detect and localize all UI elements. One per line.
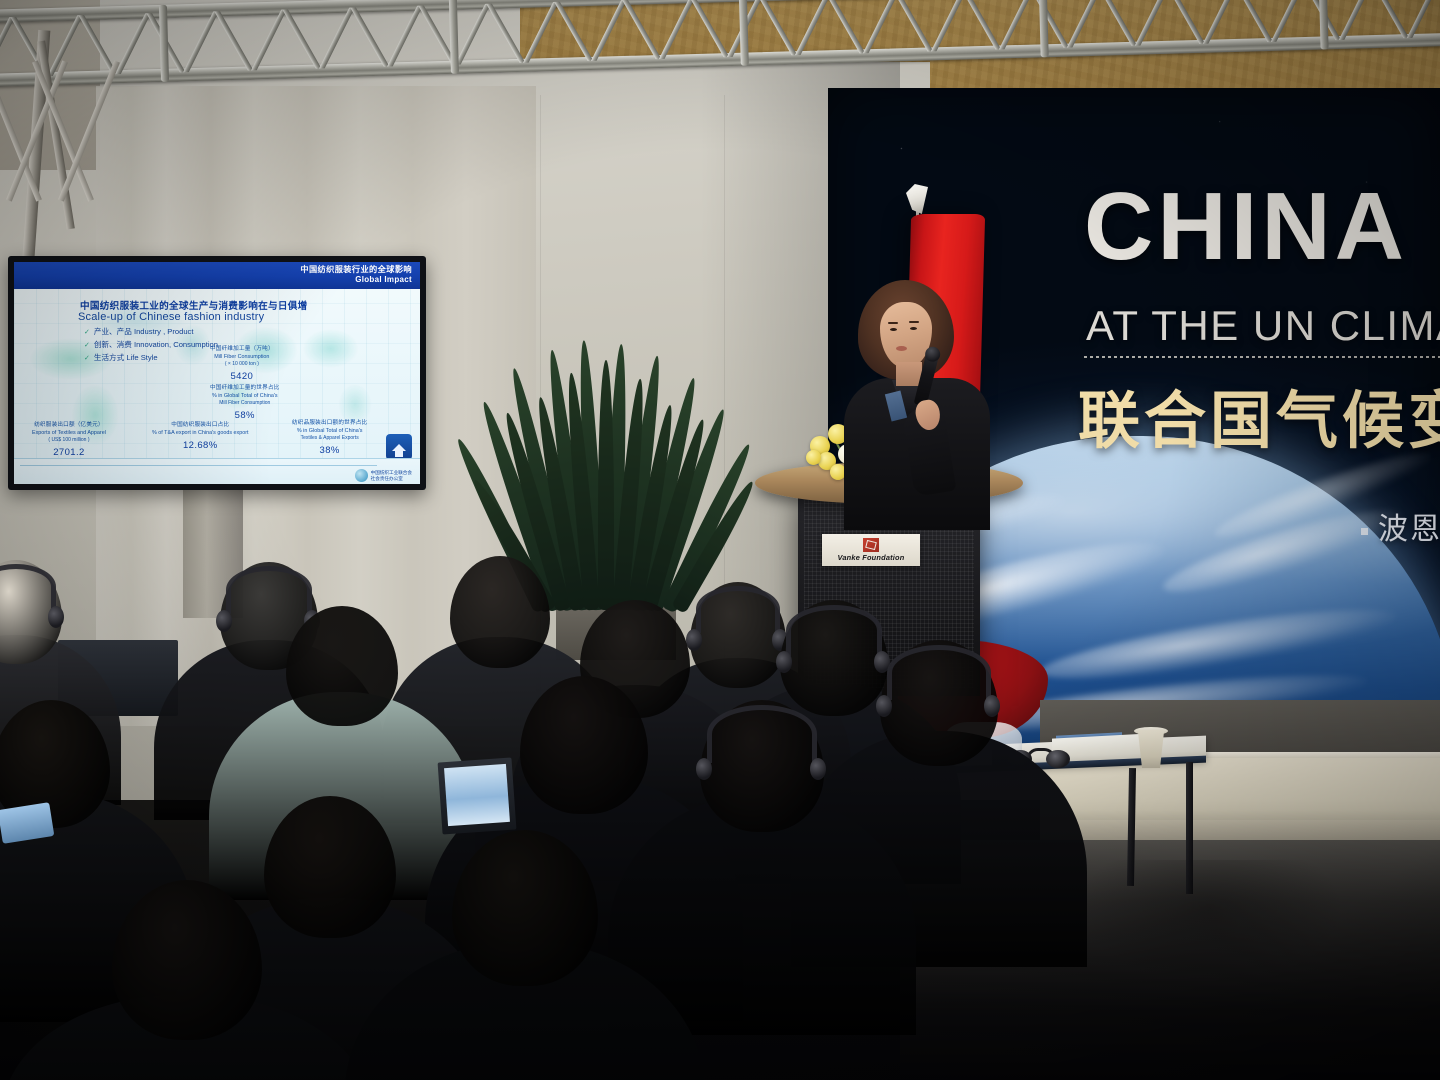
interpretation-headset	[887, 645, 991, 700]
truss-diagonal	[1369, 0, 1412, 45]
stat-global-share-ta-export: 纺织品服装出口额的世界占比 % in Global Total of China…	[292, 420, 367, 456]
truss-diagonal	[1133, 0, 1172, 52]
stat-mill-fiber-consumption: 中国纤维加工量（万吨） Mill Fiber Consumption ( × 1…	[210, 346, 274, 382]
presentation-slide: 中国纺织服装行业的全球影响 Global Impact 中国纺织服装工业的全球生…	[14, 262, 420, 484]
stat-label-en: % of T&A export in China's goods export	[152, 430, 249, 437]
stat-value: 2701.2	[32, 447, 106, 458]
truss-diagonal	[997, 0, 1036, 56]
backdrop-location-text: 波恩	[1378, 513, 1440, 546]
headset-earcup	[776, 651, 792, 673]
truss-diagonal	[961, 0, 1004, 56]
truss-diagonal	[757, 0, 800, 62]
truss-diagonal	[453, 0, 492, 71]
slide-title-en: Scale-up of Chinese fashion industry	[78, 311, 264, 323]
slide-bullet-item: 生活方式 Life Style	[84, 352, 218, 365]
stat-value: 38%	[292, 445, 367, 456]
truss-diagonal	[113, 9, 152, 78]
headphone-earcup	[1046, 750, 1070, 768]
truss-vertical	[1039, 0, 1049, 57]
backdrop-chinese-title: 联合国气候变化大	[1078, 370, 1440, 460]
stat-textile-apparel-exports: 纺织服装出口额（亿美元） Exports of Textiles and App…	[32, 422, 106, 458]
org-name: 中国纺织工业联合会 社会责任办公室	[371, 470, 412, 482]
truss-diagonal	[1233, 0, 1276, 49]
backdrop-headline: CHINA	[1084, 182, 1408, 272]
org-name-line1: 中国纺织工业联合会	[371, 470, 412, 476]
interpretation-headset	[226, 566, 312, 614]
interpretation-headset	[696, 586, 780, 633]
truss-diagonal	[893, 0, 936, 58]
floor-shadow	[1080, 860, 1340, 980]
truss-diagonal	[317, 3, 356, 75]
truss-diagonal	[1165, 0, 1208, 50]
truss-cross-brace	[8, 70, 118, 190]
stat-label-cn: 纺织服装出口额（亿美元）	[32, 422, 106, 430]
stat-global-share-fiber: 中国纤维加工量的世界占比 % in Global Total of China'…	[210, 385, 280, 421]
truss-diagonal	[181, 7, 220, 78]
headset-earcup	[810, 758, 826, 780]
stat-value: 5420	[210, 371, 274, 382]
slide-bullet-item: 创新、消费 Innovation, Consumption	[84, 339, 218, 352]
snake-plant	[528, 338, 704, 610]
truss-diagonal	[1201, 0, 1240, 50]
headset-earcup	[686, 629, 702, 651]
audience-head	[112, 880, 262, 1040]
truss-diagonal	[349, 3, 392, 73]
stat-label-en: % in Global Total of China's	[210, 393, 280, 400]
stage-front-panel	[1040, 758, 1440, 828]
truss-diagonal	[621, 0, 664, 66]
truss-vertical	[739, 0, 749, 66]
stat-ta-share-goods-export: 中国纺织服装出口占比 % of T&A export in China's go…	[152, 422, 249, 451]
stat-value: 58%	[210, 410, 280, 421]
headset-earcup	[48, 606, 64, 628]
truss-diagonal	[521, 0, 560, 69]
stat-label-unit: ( US$ 100 million )	[32, 437, 106, 444]
bullet-square-icon	[1361, 528, 1368, 535]
interpretation-headset	[786, 605, 881, 656]
truss-diagonal	[1097, 0, 1140, 52]
side-table-leg	[1186, 762, 1193, 894]
stat-value: 12.68%	[152, 440, 249, 451]
backdrop-subheadline: AT THE UN CLIMATE	[1086, 302, 1440, 350]
flower-bloom	[806, 450, 821, 465]
headset-earcup	[216, 610, 232, 632]
slide-bullet-list: 产业、产品 Industry , Product 创新、消费 Innovatio…	[84, 326, 218, 365]
vanke-foundation-label: Vanke Foundation	[838, 553, 905, 562]
stat-label-unit: Mill Fiber Consumption	[210, 400, 280, 407]
plant-leaf	[598, 360, 614, 610]
truss-diagonal	[58, 60, 120, 201]
truss-diagonal	[385, 1, 424, 73]
stat-label-cn: 中国纺织服装出口占比	[152, 422, 249, 430]
truss-diagonal	[689, 0, 732, 64]
truss-vertical	[1318, 0, 1328, 50]
vanke-logo-icon	[863, 538, 879, 552]
interpretation-headset	[707, 705, 816, 763]
org-emblem-icon	[355, 469, 368, 482]
org-name-line2: 社会责任办公室	[371, 476, 412, 482]
speaker-eye	[910, 327, 917, 330]
speaker-eyebrow	[888, 322, 898, 324]
slide-header-cn: 中国纺织服装行业的全球影响	[14, 264, 412, 275]
truss-diagonal	[213, 7, 256, 77]
truss-diagonal	[929, 0, 968, 58]
slide-title-cn: 中国纺织服装工业的全球生产与消费影响在与日俱增	[80, 298, 308, 312]
truss-diagonal	[281, 5, 324, 75]
speaker-mouth	[896, 346, 907, 351]
stat-label-cn: 中国纤维加工量（万吨）	[210, 346, 274, 354]
stat-label-unit: Textiles & Apparel Exports	[292, 435, 367, 442]
speaker-eyebrow	[909, 321, 919, 323]
headset-earcup	[696, 758, 712, 780]
slide-header: 中国纺织服装行业的全球影响 Global Impact	[14, 262, 420, 289]
speaker-eye	[890, 328, 897, 331]
conference-room-scene: CHINA AT THE UN CLIMATE 联合国气候变化大 波恩 中国纺织…	[0, 0, 1440, 1080]
truss-diagonal	[657, 0, 696, 66]
stat-label-en: Mill Fiber Consumption	[210, 354, 274, 361]
backdrop-divider	[1084, 356, 1440, 358]
truss-diagonal	[825, 0, 868, 60]
stat-label-cn: 中国纤维加工量的世界占比	[210, 385, 280, 393]
house-icon	[386, 434, 412, 460]
truss-diagonal	[1437, 0, 1440, 43]
truss-diagonal	[485, 0, 528, 69]
truss-diagonal	[861, 0, 900, 60]
truss-diagonal	[589, 0, 628, 67]
vanke-foundation-sign: Vanke Foundation	[822, 534, 920, 566]
house-icon-shape	[392, 444, 406, 451]
truss-diagonal	[249, 5, 288, 77]
backdrop-location: 波恩	[1361, 504, 1440, 548]
truss-diagonal	[793, 0, 832, 62]
truss-diagonal	[1065, 0, 1104, 54]
slide-header-en: Global Impact	[14, 275, 412, 285]
laptop-screen	[444, 764, 510, 826]
slide-bullet-item: 产业、产品 Industry , Product	[84, 326, 218, 339]
speaker-presenter	[838, 280, 1018, 530]
stat-label-unit: ( × 10 000 ton )	[210, 361, 274, 368]
slide-footer-org-logo: 中国纺织工业联合会 社会责任办公室	[355, 469, 412, 482]
stat-label-en: % in Global Total of China's	[292, 428, 367, 435]
truss-diagonal	[1029, 0, 1072, 54]
truss-diagonal	[6, 60, 68, 201]
presentation-monitor[interactable]: 中国纺织服装行业的全球影响 Global Impact 中国纺织服装工业的全球生…	[8, 256, 426, 490]
stat-label-en: Exports of Textiles and Apparel	[32, 430, 106, 437]
stat-label-cn: 纺织品服装出口额的世界占比	[292, 420, 367, 428]
truss-diagonal	[553, 0, 596, 68]
